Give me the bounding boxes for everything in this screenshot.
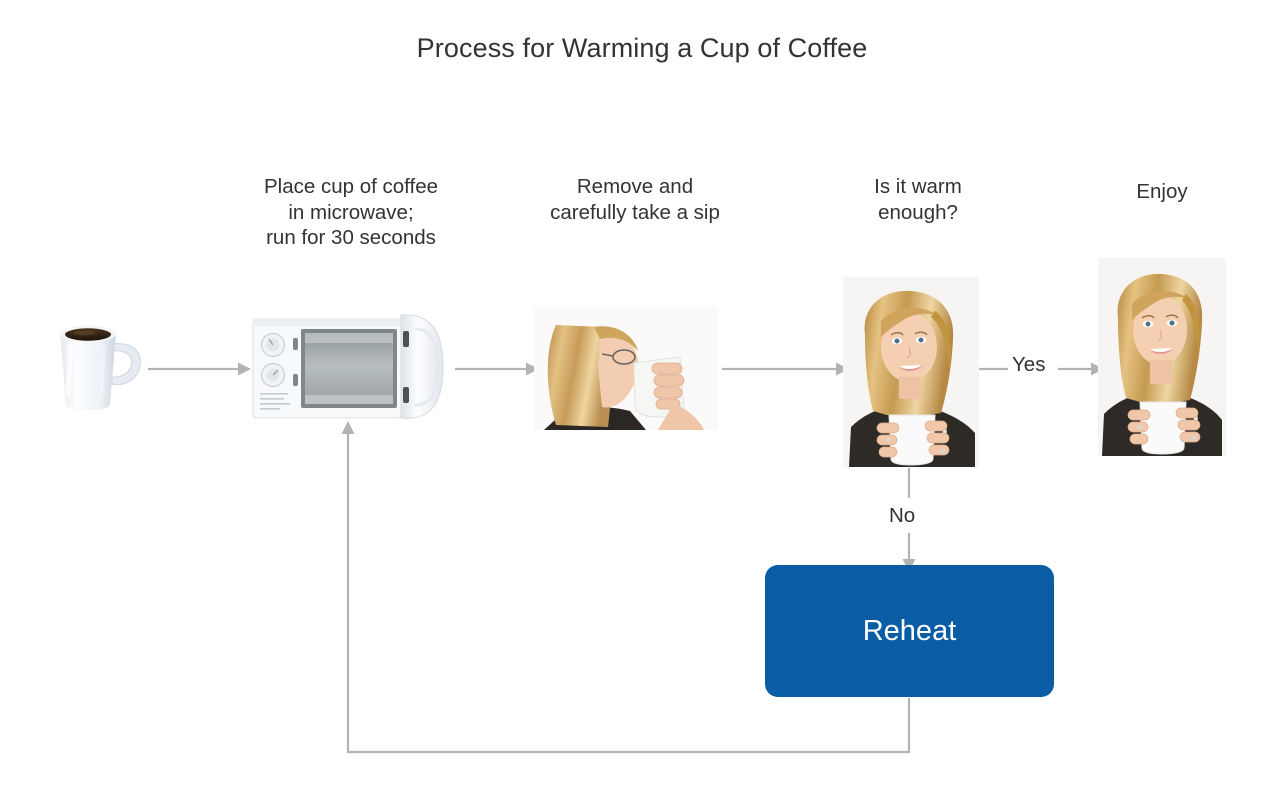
woman-holding-mug-photo bbox=[843, 277, 979, 467]
step-caption-remove-and-sip: Remove and carefully take a sip bbox=[502, 174, 768, 225]
step-caption-enjoy: Enjoy bbox=[1062, 179, 1262, 205]
reheat-process-label: Reheat bbox=[863, 615, 957, 648]
page-title: Process for Warming a Cup of Coffee bbox=[0, 33, 1284, 64]
step-caption-is-it-warm-enough: Is it warm enough? bbox=[800, 174, 1036, 225]
flowchart-canvas: Process for Warming a Cup of Coffee bbox=[0, 0, 1284, 808]
step-caption-place-in-microwave: Place cup of coffee in microwave; run fo… bbox=[218, 174, 484, 251]
edge-label-yes: Yes bbox=[1012, 353, 1045, 377]
woman-sipping-photo bbox=[534, 307, 718, 430]
microwave-photo bbox=[245, 305, 450, 428]
coffee-cup-photo bbox=[42, 300, 166, 418]
reheat-process-box[interactable]: Reheat bbox=[765, 565, 1054, 697]
edge-label-no: No bbox=[889, 504, 915, 528]
woman-enjoying-photo bbox=[1098, 258, 1226, 456]
